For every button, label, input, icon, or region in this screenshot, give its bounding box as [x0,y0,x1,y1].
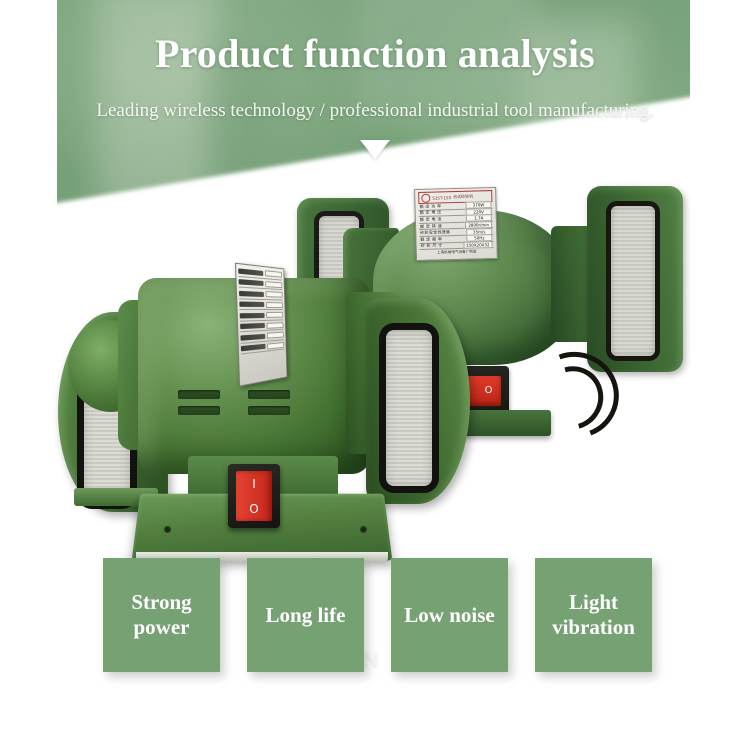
cooling-vent [248,390,290,399]
feature-label: Light vibration [535,590,652,640]
grinder-front-unit: I O [60,240,480,540]
spec-row [239,300,283,310]
feature-box-low-noise[interactable]: Low noise [391,558,508,672]
spec-plate-model: 台式砂轮机 [453,194,473,201]
grinding-wheel-right [386,330,432,486]
power-switch-rocker-front[interactable]: I O [236,471,272,521]
power-switch-housing-front[interactable]: I O [228,464,280,528]
spec-row [240,311,284,321]
switch-off-label: O [249,503,258,515]
cooling-vent [248,406,290,415]
feature-label: Long life [260,603,352,628]
spec-plate-code: S1ST-150 [432,195,451,200]
switch-off-label: O [485,386,493,396]
cooling-vent [178,390,220,399]
page-title: Product function analysis [0,30,750,77]
feature-box-long-life[interactable]: Long life [247,558,364,672]
spec-key: 额 定 电 流 [420,216,442,223]
grinding-wheel-right [611,206,655,356]
page-subtitle: Leading wireless technology / profession… [0,100,750,122]
mounting-hole-icon [360,526,367,533]
feature-label: Strong power [103,590,220,640]
feature-box-light-vibration[interactable]: Light vibration [535,558,652,672]
mounting-hole-icon [164,526,171,533]
feature-box-row: Strong power Long life Low noise Light v… [0,558,750,678]
feature-label: Low noise [398,603,500,628]
spec-key: 额 定 电 压 [420,210,442,217]
page-root: Product function analysis Leading wirele… [0,0,750,750]
spec-row [239,289,283,300]
spec-key: 砂轮安全线速度 [420,229,450,236]
cooling-vent [178,406,220,415]
product-photo: S1ST-150 台式砂轮机 额 出 功 率 370W 额 定 电 压 220V… [0,150,750,550]
certification-seal-icon [421,193,430,202]
spec-plate-angled [235,263,287,387]
switch-on-label: I [252,478,256,490]
feature-box-strong-power[interactable]: Strong power [103,558,220,672]
